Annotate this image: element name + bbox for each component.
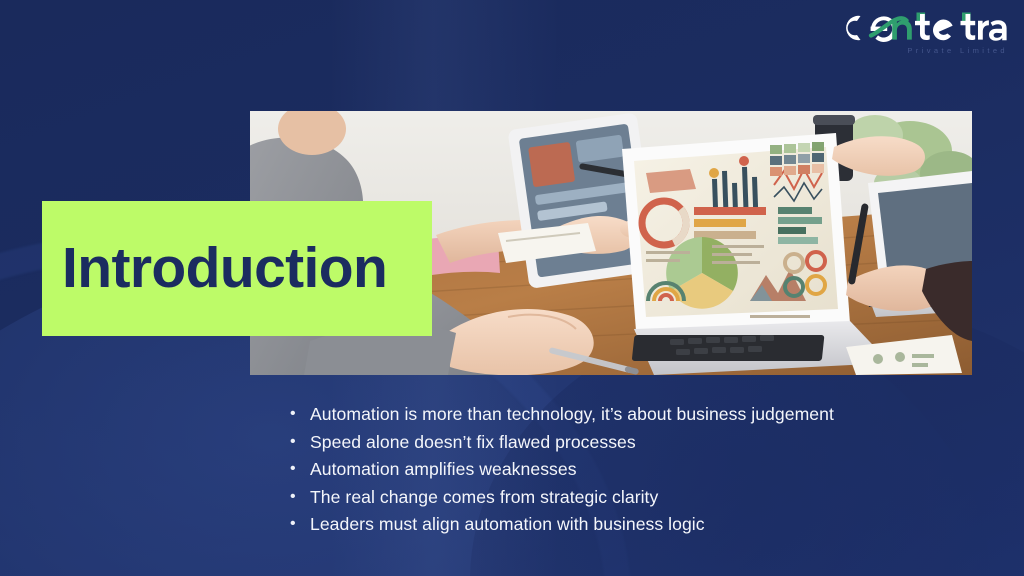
logo-tagline: Private Limited <box>907 46 1008 55</box>
company-logo: Private Limited <box>838 8 1010 66</box>
logo-wordmark <box>838 8 1010 48</box>
page-title: Introduction <box>42 240 387 297</box>
slide-title-box: Introduction <box>42 201 432 336</box>
list-item: Automation amplifies weaknesses <box>288 459 978 480</box>
list-item: Leaders must align automation with busin… <box>288 514 978 535</box>
list-item: The real change comes from strategic cla… <box>288 487 978 508</box>
presentation-slide: Private Limited <box>0 0 1024 576</box>
centetra-logo-icon <box>838 8 1010 48</box>
bullet-list: Automation is more than technology, it’s… <box>288 404 978 542</box>
list-item: Automation is more than technology, it’s… <box>288 404 978 425</box>
list-item: Speed alone doesn’t fix flawed processes <box>288 432 978 453</box>
